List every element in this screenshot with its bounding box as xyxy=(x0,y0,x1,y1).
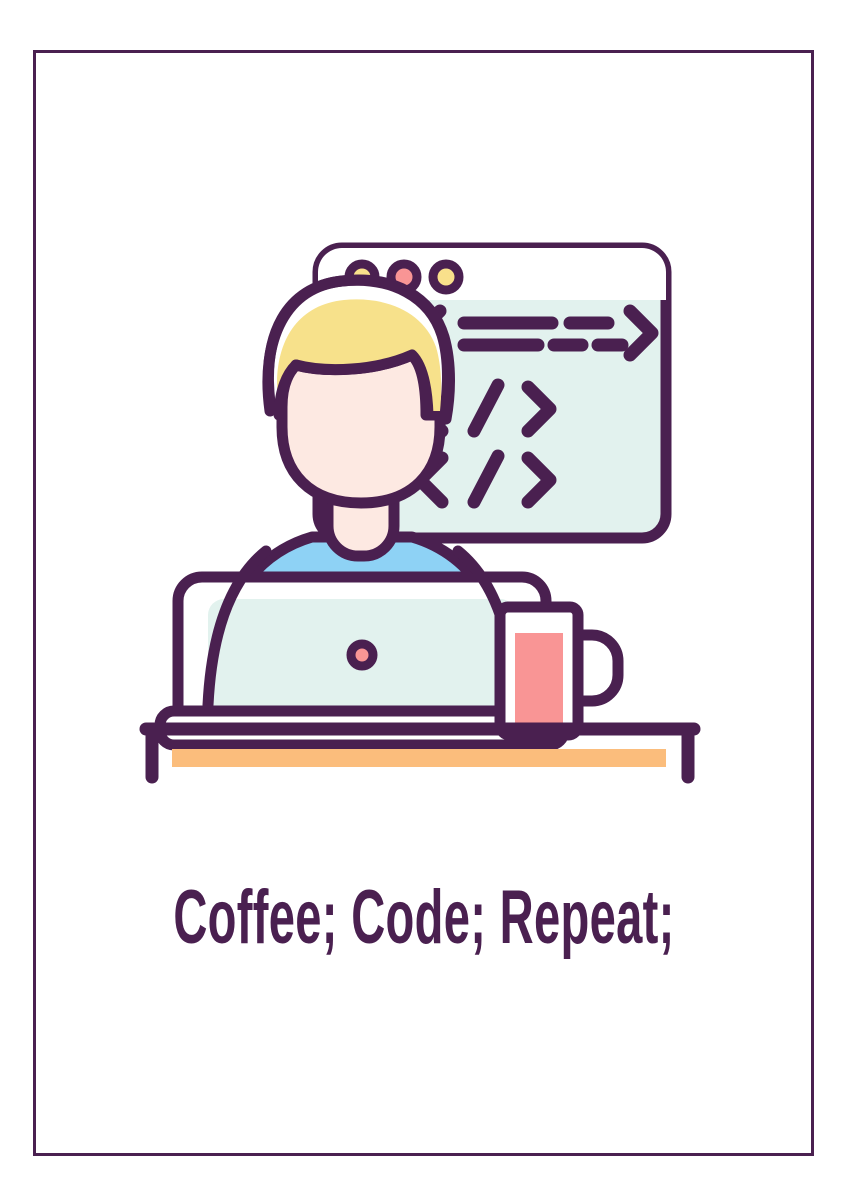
programmer-illustration xyxy=(130,215,710,785)
coffee-mug xyxy=(500,607,618,735)
poster-caption: Coffee; Code; Repeat; xyxy=(161,880,687,956)
window-dot-yellow-2-icon[interactable] xyxy=(433,264,459,290)
poster-canvas: Coffee; Code; Repeat; xyxy=(0,0,848,1200)
laptop-logo-icon xyxy=(351,644,373,666)
mug-coffee-fill xyxy=(515,633,563,729)
desk-accent-band xyxy=(172,749,666,767)
illustration-svg xyxy=(130,215,710,785)
